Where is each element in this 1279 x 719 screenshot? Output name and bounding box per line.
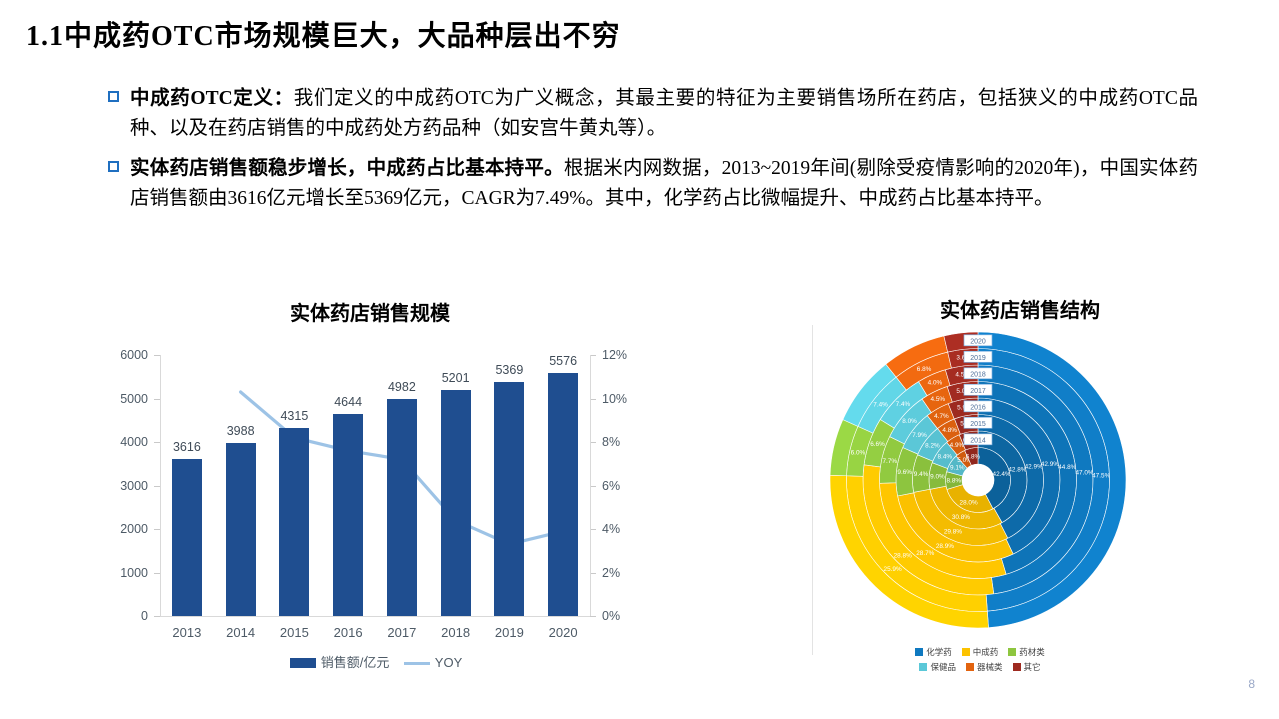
sunburst-value-label: 7.7% bbox=[883, 458, 898, 465]
sunburst-value-label: 4.8% bbox=[942, 427, 957, 434]
svg-text:2015: 2015 bbox=[970, 421, 986, 428]
bar[interactable] bbox=[441, 390, 471, 616]
sunburst-value-label: 7.4% bbox=[873, 402, 888, 409]
legend-item: 器械类 bbox=[966, 661, 1003, 673]
bullet-lead: 实体药店销售额稳步增长，中成药占比基本持平。 bbox=[130, 158, 564, 179]
sunburst-value-label: 9.6% bbox=[897, 469, 912, 476]
page-title: 1.1中成药OTC市场规模巨大，大品种层出不穷 bbox=[26, 14, 621, 54]
x-axis-tick: 2013 bbox=[172, 625, 201, 640]
legend-swatch-line bbox=[404, 656, 435, 671]
bar-value-label: 4315 bbox=[280, 409, 308, 423]
sunburst-value-label: 4.5% bbox=[931, 396, 946, 403]
legend-row: 化学药 中成药 药材类 bbox=[880, 646, 1080, 658]
y-axis-tick-right: 8% bbox=[602, 435, 620, 449]
sunburst-value-label: 29.8% bbox=[944, 528, 962, 535]
sunburst-svg: 42.4%28.0%8.8%9.1%5.0%6.8%42.8%30.8%9.0%… bbox=[818, 325, 1218, 655]
bar-chart: 36163988431546444982520153695576 0100020… bbox=[96, 340, 656, 660]
legend-item: 药材类 bbox=[1008, 646, 1045, 658]
sunburst-value-label: 28.9% bbox=[936, 543, 954, 550]
legend-label-4: 器械类 bbox=[977, 661, 1003, 673]
x-axis-tick: 2015 bbox=[280, 625, 309, 640]
slide-root: 1.1中成药OTC市场规模巨大，大品种层出不穷 中成药OTC定义：我们定义的中成… bbox=[0, 0, 1279, 719]
bar-value-label: 5576 bbox=[549, 354, 577, 368]
sunburst-ring-year-label: 2017 bbox=[964, 384, 992, 395]
legend-chip-5 bbox=[1013, 663, 1021, 671]
legend-label-2: 药材类 bbox=[1019, 646, 1045, 658]
x-axis-tick: 2020 bbox=[549, 625, 578, 640]
sunburst-value-label: 8.4% bbox=[938, 453, 953, 460]
bullet-list: 中成药OTC定义：我们定义的中成药OTC为广义概念，其最主要的特征为主要销售场所… bbox=[108, 84, 1198, 224]
sunburst-value-label: 42.9% bbox=[1041, 461, 1059, 468]
sunburst-value-label: 6.0% bbox=[851, 449, 866, 456]
legend-label-line: YOY bbox=[435, 655, 462, 670]
y2-axis-line bbox=[590, 355, 591, 616]
bullet-text: 实体药店销售额稳步增长，中成药占比基本持平。根据米内网数据，2013~2019年… bbox=[130, 154, 1198, 214]
sunburst-value-label: 7.4% bbox=[896, 401, 911, 408]
sunburst-value-label: 9.0% bbox=[930, 474, 945, 481]
sunburst-value-label: 7.9% bbox=[912, 432, 927, 439]
y-axis-tick-right: 2% bbox=[602, 566, 620, 580]
sunburst-value-label: 28.7% bbox=[916, 550, 934, 557]
bar[interactable] bbox=[333, 414, 363, 616]
sunburst-value-label: 28.8% bbox=[894, 553, 912, 560]
svg-text:2019: 2019 bbox=[970, 355, 986, 362]
y-axis-tick-left: 2000 bbox=[96, 522, 148, 536]
legend-chip-0 bbox=[915, 648, 923, 656]
y-axis-line bbox=[160, 355, 161, 616]
x-axis-tick: 2014 bbox=[226, 625, 255, 640]
bar[interactable] bbox=[279, 428, 309, 616]
sunburst-value-label: 30.8% bbox=[952, 514, 970, 521]
bullet-item: 中成药OTC定义：我们定义的中成药OTC为广义概念，其最主要的特征为主要销售场所… bbox=[108, 84, 1198, 144]
legend-row: 保健品 器械类 其它 bbox=[880, 661, 1080, 673]
sunburst-chart-title: 实体药店销售结构 bbox=[840, 294, 1200, 323]
bar[interactable] bbox=[226, 443, 256, 616]
legend-item: 其它 bbox=[1013, 661, 1041, 673]
sunburst-value-label: 4.0% bbox=[928, 379, 943, 386]
sunburst-center-hole bbox=[962, 464, 994, 496]
sunburst-ring-year-label: 2020 bbox=[964, 335, 992, 346]
y-axis-tick-right: 4% bbox=[602, 522, 620, 536]
x-axis-tick: 2016 bbox=[334, 625, 363, 640]
bar-value-label: 4644 bbox=[334, 395, 362, 409]
bar[interactable] bbox=[387, 399, 417, 616]
y-axis-tick-left: 5000 bbox=[96, 392, 148, 406]
bar-plot-area: 36163988431546444982520153695576 bbox=[160, 355, 590, 616]
bullet-lead: 中成药OTC定义： bbox=[130, 88, 294, 109]
sunburst-value-label: 28.0% bbox=[960, 499, 978, 506]
sunburst-ring-year-label: 2018 bbox=[964, 368, 992, 379]
y-axis-tick-right: 0% bbox=[602, 609, 620, 623]
x-axis-tick: 2017 bbox=[387, 625, 416, 640]
legend-chip-1 bbox=[962, 648, 970, 656]
y-axis-tick-right: 10% bbox=[602, 392, 627, 406]
legend-label-3: 保健品 bbox=[930, 661, 956, 673]
sunburst-ring-year-label: 2015 bbox=[964, 417, 992, 428]
sunburst-ring-year-label: 2019 bbox=[964, 351, 992, 362]
legend-label-5: 其它 bbox=[1024, 661, 1041, 673]
bar-value-label: 5201 bbox=[442, 371, 470, 385]
svg-text:2014: 2014 bbox=[970, 437, 986, 444]
sunburst-legend: 化学药 中成药 药材类 保健品 器械类 其它 bbox=[880, 646, 1080, 676]
x-axis-line bbox=[160, 616, 590, 617]
bullet-item: 实体药店销售额稳步增长，中成药占比基本持平。根据米内网数据，2013~2019年… bbox=[108, 154, 1198, 214]
yoy-line-series bbox=[160, 355, 590, 616]
bar-chart-legend: 销售额/亿元 YOY bbox=[96, 652, 656, 671]
y-axis-tick-left: 1000 bbox=[96, 566, 148, 580]
legend-label-bar: 销售额/亿元 bbox=[321, 655, 390, 670]
svg-text:2016: 2016 bbox=[970, 404, 986, 411]
sunburst-ring-year-label: 2014 bbox=[964, 434, 992, 445]
legend-item: 保健品 bbox=[919, 661, 956, 673]
svg-text:2020: 2020 bbox=[970, 338, 986, 345]
x-axis-tick: 2019 bbox=[495, 625, 524, 640]
sunburst-value-label: 8.0% bbox=[902, 418, 917, 425]
y-axis-tick-left: 0 bbox=[96, 609, 148, 623]
sunburst-value-label: 25.9% bbox=[884, 566, 902, 573]
sunburst-value-label: 6.8% bbox=[917, 366, 932, 373]
sunburst-value-label: 9.4% bbox=[914, 471, 929, 478]
sunburst-value-label: 47.5% bbox=[1092, 473, 1110, 480]
section-divider bbox=[812, 325, 813, 655]
bullet-text: 中成药OTC定义：我们定义的中成药OTC为广义概念，其最主要的特征为主要销售场所… bbox=[130, 84, 1198, 144]
y-axis-tick-right: 6% bbox=[602, 479, 620, 493]
bar[interactable] bbox=[172, 459, 202, 616]
sunburst-value-label: 8.8% bbox=[947, 477, 962, 484]
sunburst-value-label: 6.8% bbox=[966, 453, 981, 460]
page-number: 8 bbox=[1248, 677, 1255, 691]
legend-chip-3 bbox=[919, 663, 927, 671]
sunburst-value-label: 4.7% bbox=[934, 413, 949, 420]
y-axis-tick-left: 4000 bbox=[96, 435, 148, 449]
legend-item: 化学药 bbox=[915, 646, 952, 658]
square-bullet-icon bbox=[108, 91, 119, 102]
sunburst-value-label: 44.8% bbox=[1058, 464, 1076, 471]
y-axis-tick-right: 12% bbox=[602, 348, 627, 362]
legend-label-0: 化学药 bbox=[926, 646, 952, 658]
sunburst-ring-year-label: 2016 bbox=[964, 401, 992, 412]
svg-text:2017: 2017 bbox=[970, 388, 986, 395]
bar[interactable] bbox=[494, 382, 524, 616]
y-axis-tick-left: 3000 bbox=[96, 479, 148, 493]
svg-text:2018: 2018 bbox=[970, 371, 986, 378]
legend-chip-4 bbox=[966, 663, 974, 671]
sunburst-value-label: 47.0% bbox=[1075, 470, 1093, 477]
y-axis-tick-left: 6000 bbox=[96, 348, 148, 362]
legend-label-1: 中成药 bbox=[973, 646, 999, 658]
bar-value-label: 3616 bbox=[173, 440, 201, 454]
sunburst-value-label: 8.2% bbox=[925, 442, 940, 449]
sunburst-value-label: 9.1% bbox=[950, 464, 965, 471]
sunburst-chart: 42.4%28.0%8.8%9.1%5.0%6.8%42.8%30.8%9.0%… bbox=[818, 325, 1218, 655]
bar-chart-title: 实体药店销售规模 bbox=[140, 297, 600, 326]
square-bullet-icon bbox=[108, 161, 119, 172]
bar-value-label: 4982 bbox=[388, 380, 416, 394]
y-tick-mark bbox=[590, 616, 596, 617]
legend-item: 中成药 bbox=[962, 646, 999, 658]
sunburst-value-label: 6.6% bbox=[870, 441, 885, 448]
x-axis-tick: 2018 bbox=[441, 625, 470, 640]
legend-swatch-bar bbox=[290, 656, 321, 671]
bar-value-label: 5369 bbox=[495, 363, 523, 377]
bar-value-label: 3988 bbox=[227, 424, 255, 438]
bar[interactable] bbox=[548, 373, 578, 616]
legend-chip-2 bbox=[1008, 648, 1016, 656]
